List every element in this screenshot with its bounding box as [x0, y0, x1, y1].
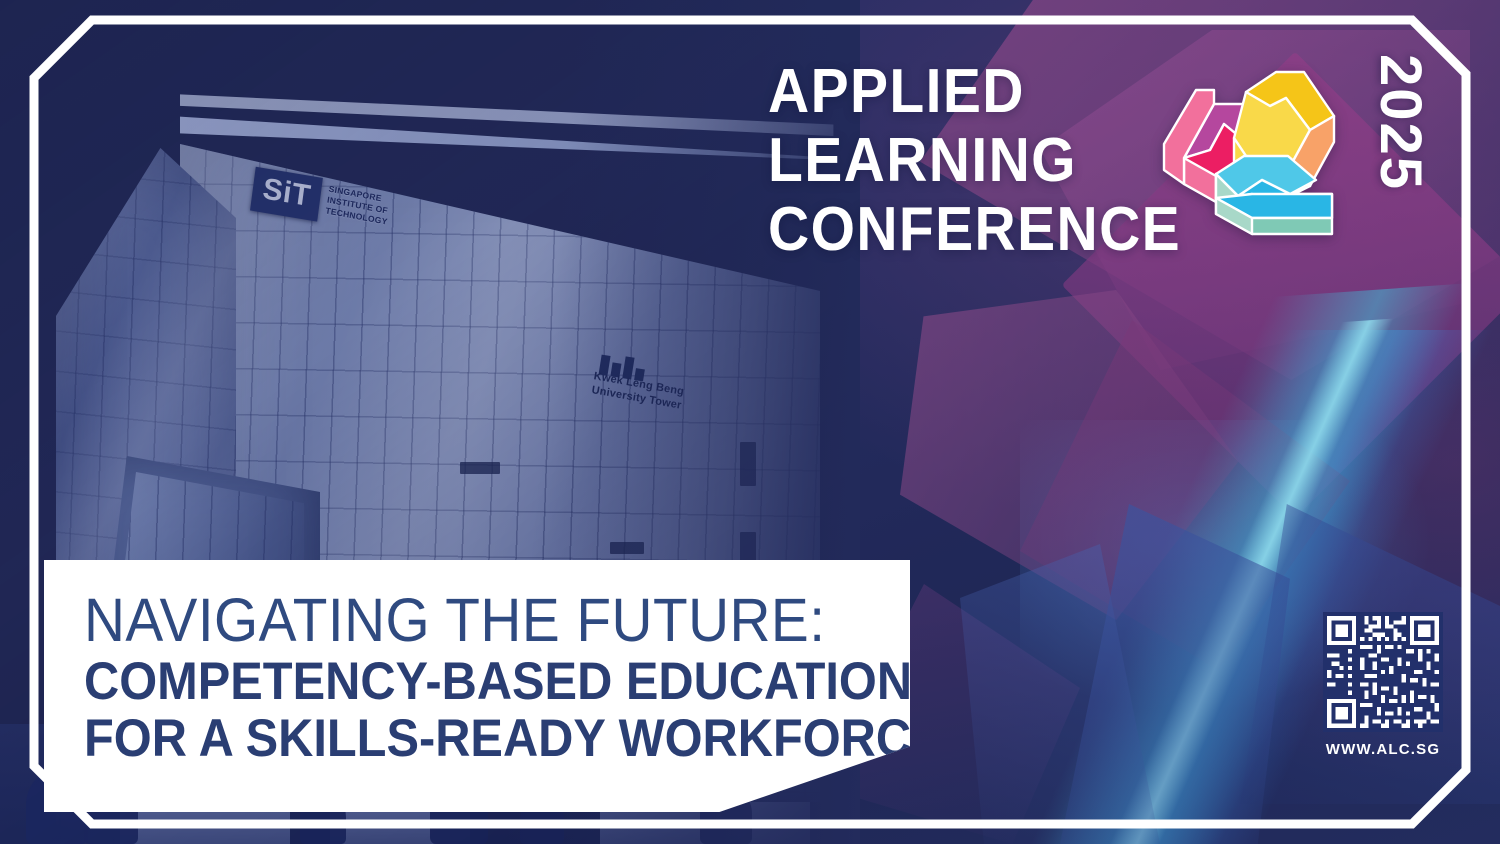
alc-logo-icon — [1152, 46, 1362, 246]
conference-title-line-3: CONFERENCE — [768, 200, 1181, 261]
conference-year-text: 2025 — [1371, 54, 1429, 191]
conference-year: 2025 — [1371, 52, 1435, 250]
headline-panel-content: NAVIGATING THE FUTURE: COMPETENCY-BASED … — [84, 590, 876, 766]
qr-url-label[interactable]: WWW.ALC.SG — [1320, 741, 1446, 758]
conference-title-line-1: APPLIED — [768, 62, 1181, 123]
alc-logo — [1152, 46, 1362, 246]
headline-line-3: FOR A SKILLS-READY WORKFORCE — [84, 712, 813, 766]
headline-line-2: COMPETENCY-BASED EDUCATION — [84, 655, 813, 709]
qr-code-icon[interactable] — [1323, 612, 1443, 732]
headline-panel: NAVIGATING THE FUTURE: COMPETENCY-BASED … — [44, 560, 910, 812]
conference-banner: SiT SINGAPORE INSTITUTE OF TECHNOLOGY Kw… — [0, 0, 1500, 844]
qr-block[interactable]: WWW.ALC.SG — [1320, 612, 1446, 772]
conference-title: APPLIED LEARNING CONFERENCE — [768, 62, 1181, 268]
conference-title-line-2: LEARNING — [768, 131, 1181, 192]
headline-line-1: NAVIGATING THE FUTURE: — [84, 590, 821, 651]
